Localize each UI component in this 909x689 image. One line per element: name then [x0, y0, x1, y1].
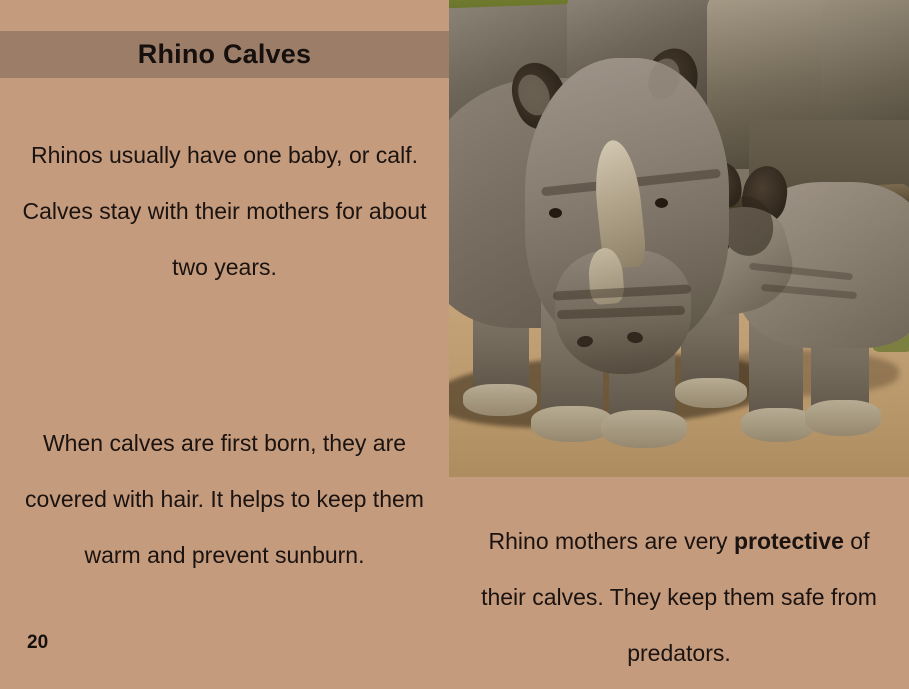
rhino-photo	[449, 0, 909, 477]
adult-rhino-foot	[675, 378, 747, 408]
left-page: Rhino Calves Rhinos usually have one bab…	[0, 0, 449, 689]
page-number-left: 20	[27, 632, 48, 654]
page-title: Rhino Calves	[138, 41, 311, 68]
caption-bold-word: protective	[734, 528, 844, 554]
calf-foot	[741, 408, 815, 442]
calf-foot	[805, 400, 881, 436]
book-spread: Rhino Calves Rhinos usually have one bab…	[0, 0, 909, 689]
adult-rhino-foot	[463, 384, 537, 416]
body-paragraph-1: Rhinos usually have one baby, or calf. C…	[18, 127, 431, 295]
body-paragraph-2: When calves are first born, they are cov…	[18, 415, 431, 583]
title-banner: Rhino Calves	[0, 31, 449, 78]
adult-rhino-eye	[549, 208, 562, 218]
photo-caption: Rhino mothers are very protective of the…	[463, 513, 895, 681]
caption-text-before: Rhino mothers are very	[489, 528, 734, 554]
right-page: Rhino mothers are very protective of the…	[449, 0, 909, 689]
adult-rhino-eye	[655, 198, 668, 208]
adult-rhino-foot	[601, 410, 687, 448]
